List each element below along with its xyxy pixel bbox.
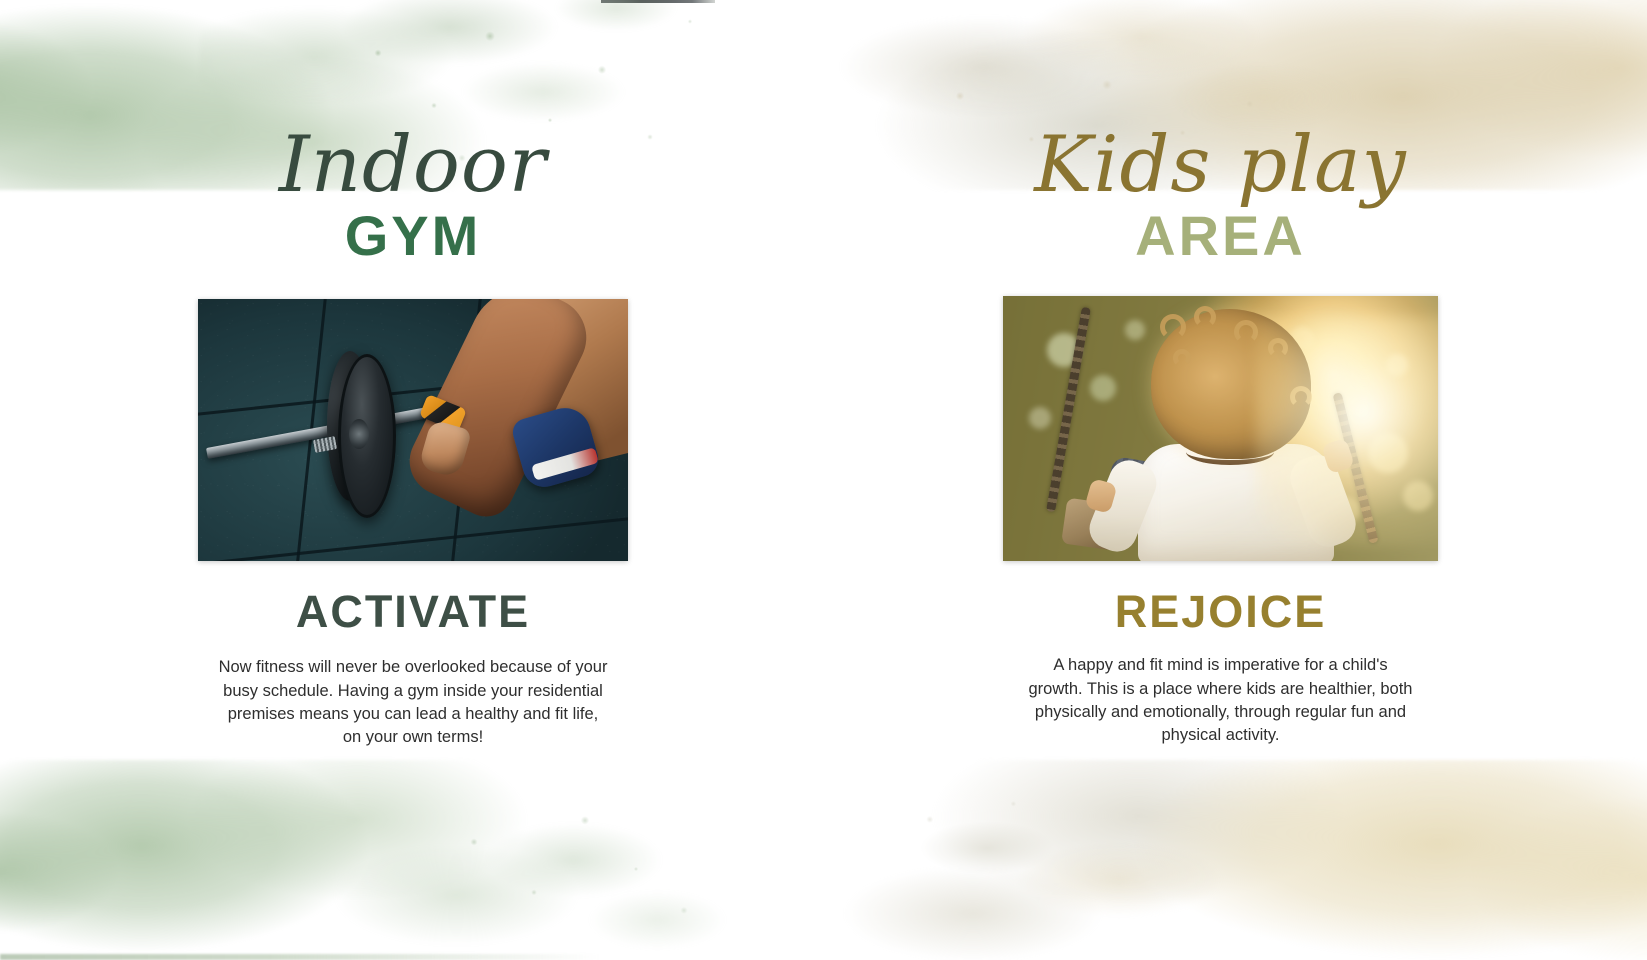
right-page-content: Kids play AREA	[901, 128, 1541, 748]
left-body-text: Now fitness will never be overlooked bec…	[218, 656, 608, 750]
warm-light-overlay	[1003, 296, 1438, 561]
left-page: Indoor GYM	[0, 0, 756, 960]
left-page-content: Indoor GYM	[93, 128, 733, 750]
right-caption: REJOICE	[901, 587, 1541, 637]
gym-photo	[198, 299, 628, 561]
right-page: Kids play AREA	[756, 0, 1647, 960]
right-body-text: A happy and fit mind is imperative for a…	[1025, 654, 1417, 748]
left-block-heading: GYM	[93, 207, 733, 266]
right-script-heading: Kids play	[901, 128, 1541, 203]
brochure-spread: Indoor GYM	[0, 0, 1647, 960]
right-block-heading: AREA	[901, 207, 1541, 266]
left-caption: ACTIVATE	[93, 587, 733, 637]
left-script-heading: Indoor	[93, 128, 733, 203]
kids-play-photo	[1003, 296, 1438, 561]
